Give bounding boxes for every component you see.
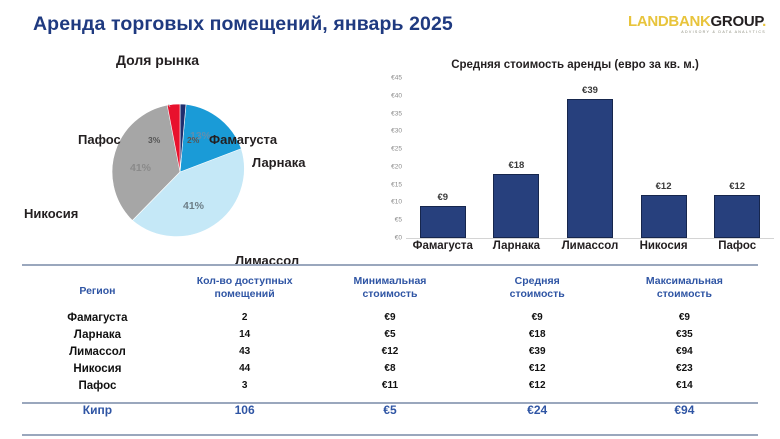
table-row: Пафос 3 €11 €12 €14: [22, 377, 758, 394]
cell-max: €35: [611, 326, 758, 343]
column-header-count-line2: помещений: [173, 288, 317, 301]
landbank-group-logo: LANDBANKGROUP. ADVISORY & DATA ANALYTICS: [628, 14, 766, 35]
bar-value-paphos: €12: [729, 181, 745, 192]
cell-avg: €39: [464, 343, 611, 360]
bar-value-nicosia: €12: [656, 181, 672, 192]
column-header-count-line1: Кол-во доступных: [173, 275, 317, 288]
x-label-paphos: Пафос: [700, 240, 774, 252]
column-header-min-line2: стоимость: [316, 288, 463, 301]
bar-chart-baseline: [406, 238, 774, 239]
bar-chart-y-axis: €45 €40 €35 €30 €25 €20 €15 €10 €5 €0: [370, 78, 404, 238]
y-tick-5: €5: [395, 217, 402, 224]
pie-value-limassol: 41%: [183, 200, 204, 212]
y-tick-10: €10: [391, 199, 402, 206]
table-row: Лимассол 43 €12 €39 €94: [22, 343, 758, 360]
average-rent-bar-chart: Средняя стоимость аренды (евро за кв. м.…: [370, 56, 780, 261]
pie-value-nicosia: 41%: [130, 162, 151, 174]
bar-larnaca[interactable]: [493, 174, 539, 238]
pie-label-larnaca: Ларнака: [252, 155, 305, 170]
column-header-max-line1: Максимальная: [611, 275, 758, 288]
y-tick-45: €45: [391, 75, 402, 82]
cell-total-min: €5: [316, 394, 463, 420]
cell-total-region: Кипр: [22, 394, 173, 420]
y-tick-35: €35: [391, 110, 402, 117]
y-tick-0: €0: [395, 235, 402, 242]
y-tick-40: €40: [391, 92, 402, 99]
bar-column-larnaca: €18: [480, 78, 554, 238]
cell-count: 3: [173, 377, 317, 394]
bar-paphos[interactable]: [714, 195, 760, 238]
cell-total-avg: €24: [464, 394, 611, 420]
y-tick-20: €20: [391, 163, 402, 170]
logo-dot: .: [762, 13, 766, 30]
cell-count: 43: [173, 343, 317, 360]
column-header-region-line1: Регион: [22, 285, 173, 298]
cell-total-count: 106: [173, 394, 317, 420]
pie-label-paphos: Пафос: [78, 132, 121, 147]
cell-min: €5: [316, 326, 463, 343]
pie-value-famagusta: 2%: [187, 135, 199, 145]
cell-count: 14: [173, 326, 317, 343]
cell-region: Фамагуста: [22, 309, 173, 326]
bar-limassol[interactable]: [567, 99, 613, 238]
bar-chart-plot-area: €9 €18 €39 €12 €12: [406, 78, 774, 238]
cell-region: Ларнака: [22, 326, 173, 343]
column-header-min-price: Минимальная стоимость: [316, 268, 463, 309]
bar-column-paphos: €12: [700, 78, 774, 238]
slide-root: Аренда торговых помещений, январь 2025 L…: [0, 0, 780, 439]
bar-nicosia[interactable]: [641, 195, 687, 238]
bar-chart-title: Средняя стоимость аренды (евро за кв. м.…: [370, 59, 780, 71]
bar-value-larnaca: €18: [508, 160, 524, 171]
x-label-nicosia: Никосия: [627, 240, 701, 252]
pie-graphic: 41% 41% 13%: [112, 104, 248, 240]
column-header-avg-line2: стоимость: [464, 288, 611, 301]
cell-max: €9: [611, 309, 758, 326]
pie-chart-title: Доля рынка: [0, 52, 360, 68]
y-tick-30: €30: [391, 128, 402, 135]
cell-avg: €9: [464, 309, 611, 326]
cell-region: Пафос: [22, 377, 173, 394]
page-title: Аренда торговых помещений, январь 2025: [33, 13, 453, 36]
cell-min: €9: [316, 309, 463, 326]
bar-column-famagusta: €9: [406, 78, 480, 238]
market-share-pie-chart: Доля рынка 41% 41% 13% Никосия Лимассол: [0, 48, 360, 258]
cell-avg: €12: [464, 377, 611, 394]
bar-value-limassol: €39: [582, 85, 598, 96]
cell-max: €14: [611, 377, 758, 394]
bar-column-nicosia: €12: [627, 78, 701, 238]
table-rule-top: [22, 264, 758, 266]
y-tick-15: €15: [391, 181, 402, 188]
cell-region: Лимассол: [22, 343, 173, 360]
pie-label-nicosia: Никосия: [24, 206, 78, 221]
cell-max: €94: [611, 343, 758, 360]
table: Регион Кол-во доступных помещений Минима…: [22, 268, 758, 420]
logo-landbank-text: LANDBANK: [628, 13, 711, 30]
x-label-limassol: Лимассол: [553, 240, 627, 252]
table-row: Ларнака 14 €5 €18 €35: [22, 326, 758, 343]
table-header-row: Регион Кол-во доступных помещений Минима…: [22, 268, 758, 309]
bar-column-limassol: €39: [553, 78, 627, 238]
cell-max: €23: [611, 360, 758, 377]
bar-chart-x-axis: Фамагуста Ларнака Лимассол Никосия Пафос: [406, 240, 774, 252]
x-label-larnaca: Ларнака: [480, 240, 554, 252]
pie-label-famagusta: Фамагуста: [209, 132, 277, 147]
table-row: Никосия 44 €8 €12 €23: [22, 360, 758, 377]
table-total-row: Кипр 106 €5 €24 €94: [22, 394, 758, 420]
cell-region: Никосия: [22, 360, 173, 377]
cell-min: €8: [316, 360, 463, 377]
cell-count: 2: [173, 309, 317, 326]
table-row: Фамагуста 2 €9 €9 €9: [22, 309, 758, 326]
bar-value-famagusta: €9: [438, 192, 449, 203]
logo-wordmark: LANDBANKGROUP.: [628, 14, 766, 29]
cell-avg: €12: [464, 360, 611, 377]
column-header-max-line2: стоимость: [611, 288, 758, 301]
column-header-min-line1: Минимальная: [316, 275, 463, 288]
cell-total-max: €94: [611, 394, 758, 420]
column-header-avg-line1: Средняя: [464, 275, 611, 288]
column-header-region: Регион: [22, 268, 173, 309]
cell-count: 44: [173, 360, 317, 377]
pie-value-paphos: 3%: [148, 135, 160, 145]
logo-group-text: GROUP: [711, 13, 763, 30]
rent-summary-table: Регион Кол-во доступных помещений Минима…: [0, 264, 780, 439]
column-header-avg-price: Средняя стоимость: [464, 268, 611, 309]
cell-avg: €18: [464, 326, 611, 343]
x-label-famagusta: Фамагуста: [406, 240, 480, 252]
column-header-max-price: Максимальная стоимость: [611, 268, 758, 309]
logo-tagline: ADVISORY & DATA ANALYTICS: [628, 31, 766, 35]
cell-min: €12: [316, 343, 463, 360]
cell-min: €11: [316, 377, 463, 394]
column-header-count: Кол-во доступных помещений: [173, 268, 317, 309]
y-tick-25: €25: [391, 146, 402, 153]
table-rule-bottom: [22, 434, 758, 436]
bar-famagusta[interactable]: [420, 206, 466, 238]
